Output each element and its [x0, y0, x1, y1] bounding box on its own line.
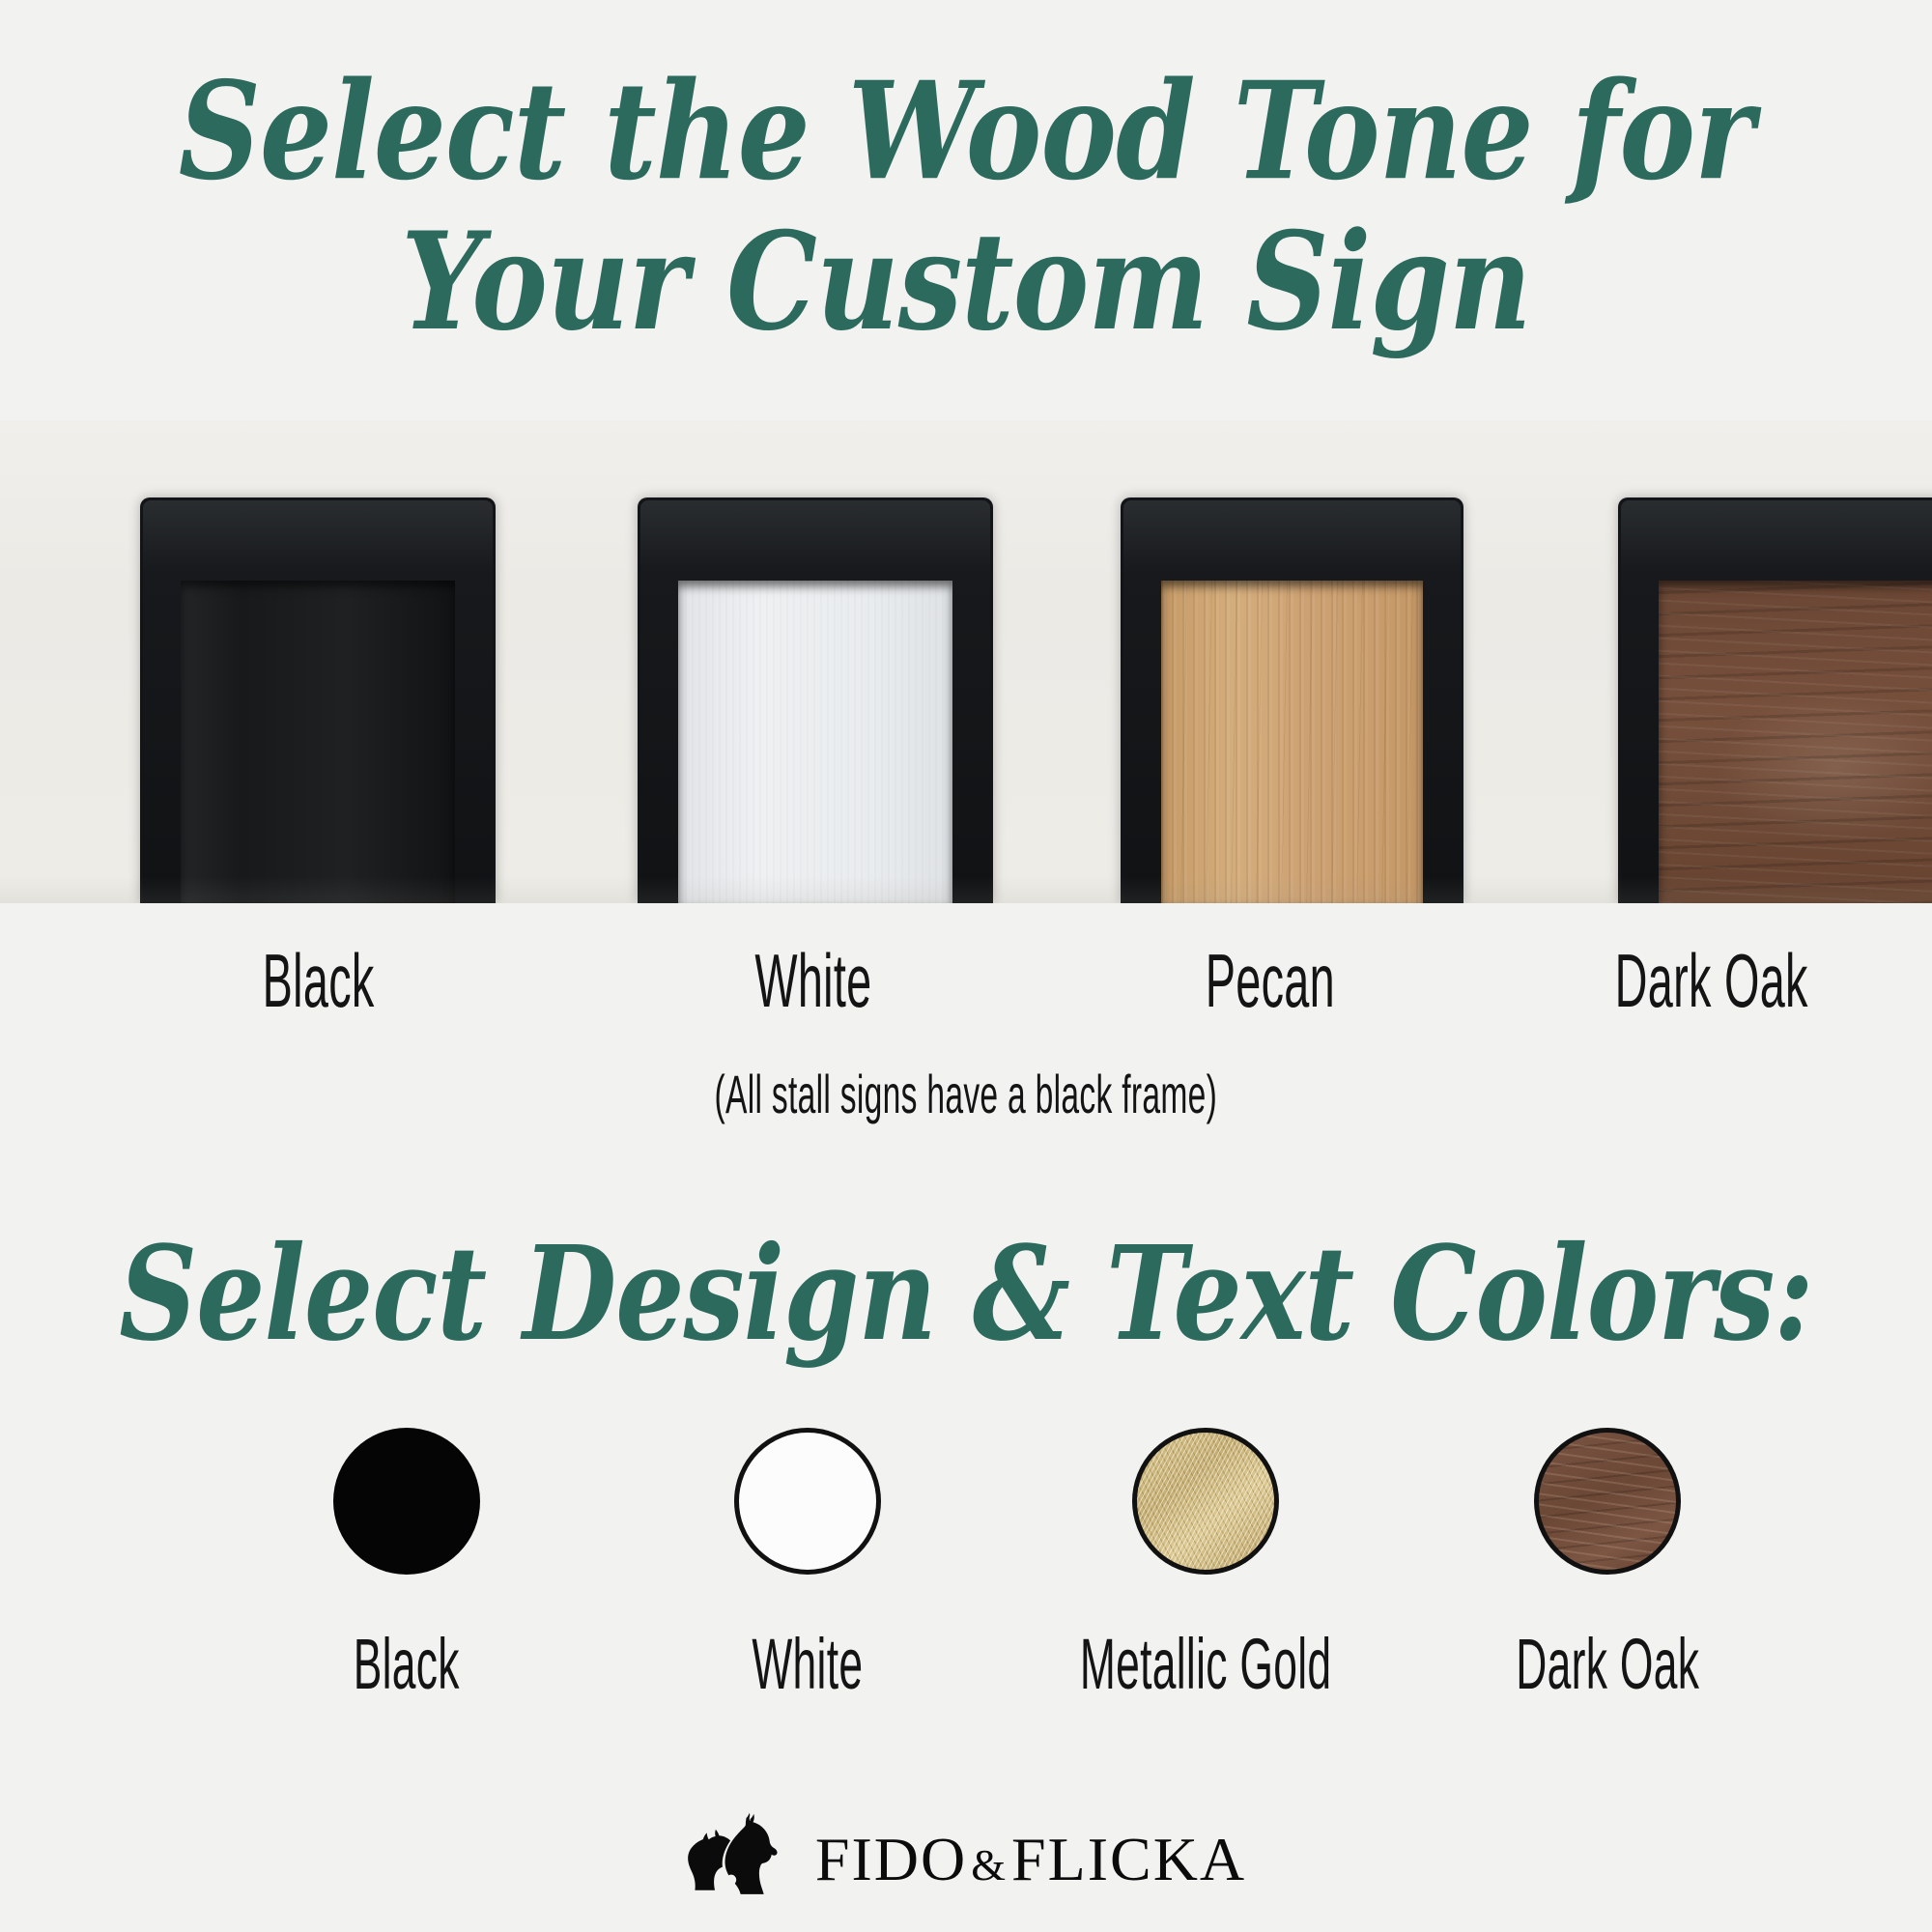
color-swatch-black[interactable] — [333, 1428, 480, 1575]
wood-tone-label-pecan-text: Pecan — [1206, 943, 1335, 1018]
wood-tone-label-dark-oak: Dark Oak — [1422, 943, 1932, 1018]
product-option-graphic: Select the Wood Tone for Your Custom Sig… — [0, 0, 1932, 1932]
frame-sample-dark-oak[interactable] — [1618, 497, 1932, 903]
wood-tone-label-white-text: White — [754, 943, 871, 1018]
brand-ampersand: & — [967, 1840, 1011, 1889]
brand-word-flicka: FLICKA — [1011, 1825, 1246, 1893]
color-label-white-text: White — [753, 1629, 864, 1700]
frame-panel-white — [678, 581, 952, 903]
footer-brand-logo: FIDO&FLICKA — [0, 1812, 1932, 1901]
frame-panel-black — [181, 581, 455, 903]
color-swatch-dark-oak[interactable] — [1534, 1428, 1681, 1575]
wood-tone-heading-line-2: Your Custom Sign — [0, 207, 1932, 357]
wood-tone-label-black: Black — [29, 943, 609, 1018]
frame-sample-black[interactable] — [140, 497, 496, 903]
wood-tone-heading: Select the Wood Tone for Your Custom Sig… — [0, 56, 1932, 357]
frame-panel-pecan — [1161, 581, 1423, 903]
color-label-black-text: Black — [354, 1629, 460, 1700]
color-swatch-white[interactable] — [734, 1428, 881, 1575]
color-swatch-metallic-gold[interactable] — [1132, 1428, 1279, 1575]
color-label-dark-oak: Dark Oak — [1308, 1629, 1907, 1700]
black-frame-note: (All stall signs have a black frame) — [0, 1063, 1932, 1125]
design-colors-heading: Select Design & Text Colors: — [0, 1223, 1932, 1366]
horse-and-dog-silhouette-icon — [686, 1812, 800, 1901]
wood-tone-label-dark-oak-text: Dark Oak — [1615, 943, 1808, 1018]
color-label-dark-oak-text: Dark Oak — [1516, 1629, 1699, 1700]
color-label-metallic-gold-text: Metallic Gold — [1080, 1629, 1332, 1700]
brand-word-fido: FIDO — [815, 1825, 967, 1893]
wood-tone-label-black-text: Black — [263, 943, 375, 1018]
brand-wordmark: FIDO&FLICKA — [815, 1829, 1246, 1890]
wood-tone-photo-strip — [0, 420, 1932, 903]
frame-sample-white[interactable] — [638, 497, 993, 903]
black-frame-note-text: (All stall signs have a black frame) — [715, 1063, 1218, 1125]
frame-sample-pecan[interactable] — [1121, 497, 1463, 903]
frame-panel-dark-oak — [1659, 581, 1932, 903]
wood-tone-heading-line-1: Select the Wood Tone for — [0, 56, 1932, 207]
